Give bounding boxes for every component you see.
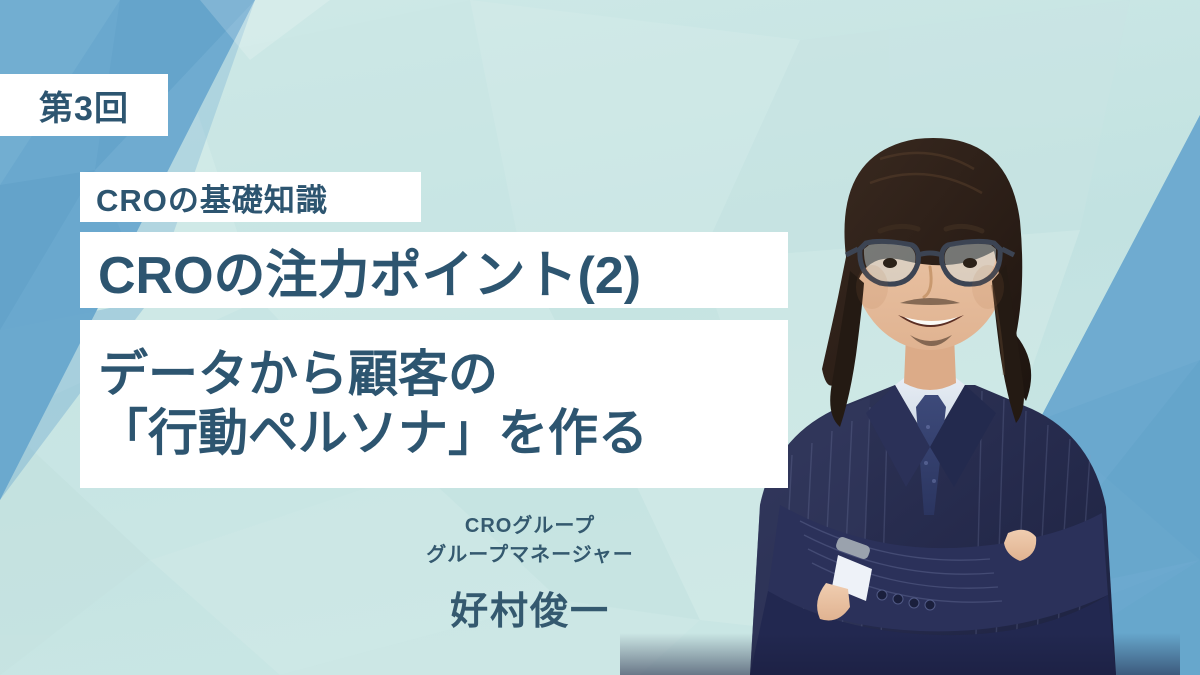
speaker-org-line-2: グループマネージャー (330, 541, 730, 570)
subtitle-line-1: データから顧客の (98, 345, 498, 404)
kicker-text: CROの基礎知識 (96, 175, 328, 220)
title-card: 第3回 CROの基礎知識 CROの注力ポイント(2) データから顧客の 「行動ペ… (0, 0, 1200, 675)
subtitle-line-2: 「行動ペルソナ」を作る (98, 404, 648, 463)
page-title: CROの注力ポイント(2) (98, 233, 641, 308)
kicker-plate: CROの基礎知識 (80, 172, 421, 222)
speaker-credit: CROグループ グループマネージャー 好村俊一 (330, 512, 730, 635)
episode-label: 第3回 (39, 81, 129, 130)
title-plate: CROの注力ポイント(2) (80, 232, 788, 308)
speaker-org-line-1: CROグループ (330, 512, 730, 541)
subtitle-plate: データから顧客の 「行動ペルソナ」を作る (80, 320, 788, 488)
episode-badge: 第3回 (0, 74, 168, 136)
speaker-name: 好村俊一 (330, 580, 730, 635)
